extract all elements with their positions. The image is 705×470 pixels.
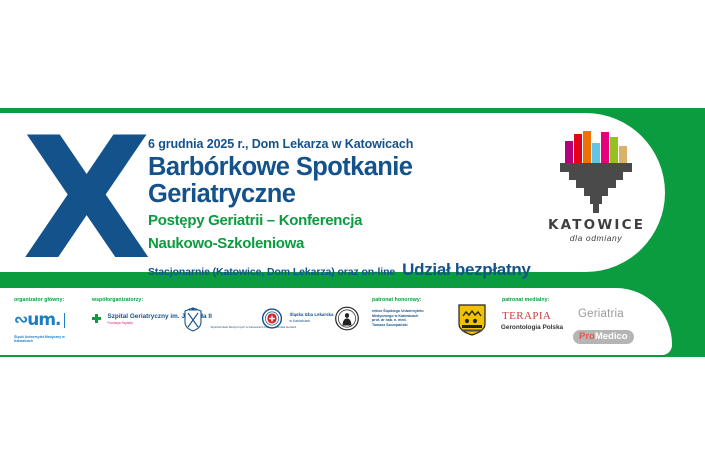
katowice-bar (601, 132, 609, 165)
katowice-heart-icon (560, 163, 632, 213)
katowice-bar (574, 134, 582, 165)
event-attendance-row: Stacjonarnie (Katowice, Dom Lekarza) ora… (148, 260, 548, 280)
main-white-panel: X 6 grudnia 2025 r., Dom Lekarza w Katow… (0, 113, 665, 272)
geriatria-wordmark: Geriatria (578, 308, 624, 320)
edition-roman-numeral: X (22, 131, 142, 271)
katowice-bar (583, 131, 591, 165)
katowice-city-logo: KATOWICE dla odmiany (548, 129, 644, 257)
label-honorary-patron: patronat honorowy: (372, 297, 422, 303)
sum-fullname: Śląski Uniwersytet Medyczny w Katowicach (14, 335, 84, 343)
poster-canvas: X 6 grudnia 2025 r., Dom Lekarza w Katow… (0, 0, 705, 470)
event-date-location: 6 grudnia 2025 r., Dom Lekarza w Katowic… (148, 137, 548, 151)
partners-strip: organizator główny: ∾um.Śląski Uniwersyt… (0, 288, 672, 355)
university-crest-icon (183, 306, 203, 332)
katowice-bar (592, 143, 600, 165)
katowice-logo-tagline: dla odmiany (548, 233, 644, 243)
logo-katowice-city-crest (458, 304, 486, 341)
katowice-color-bars (565, 131, 627, 165)
promedico-medico: Medico (595, 331, 628, 342)
katowice-bar (565, 141, 573, 165)
katowice-city-crest-icon (458, 304, 486, 336)
katowice-logo-name: KATOWICE (548, 217, 644, 233)
attendance-mode: Stacjonarnie (Katowice, Dom Lekarza) ora… (148, 266, 395, 278)
gerontologia-wordmark: Gerontologia Polska (500, 324, 564, 332)
society-seal-icon (335, 306, 359, 331)
label-media-patrons: patronat medialny: (502, 297, 549, 303)
terapia-wordmark: TERAPIA (502, 310, 551, 322)
banner-text-block: 6 grudnia 2025 r., Dom Lekarza w Katowic… (148, 137, 548, 280)
honorary-patron-text: rektor Śląskiego Uniwersytetu Medycznego… (372, 309, 450, 328)
logo-terapia: TERAPIA (502, 306, 551, 324)
logo-gerontologia-polska: Gerontologia Polska (500, 324, 564, 332)
event-title-line-2: Geriatryczne (148, 181, 548, 208)
logo-towarzystwo-gerontologiczne (335, 306, 359, 336)
izba-name-block: Śląska Izba Lekarska w Katowicach (289, 312, 333, 324)
logo-izba-lekarska: Śląska Izba Lekarska w Katowicach (262, 308, 333, 329)
event-subtitle-line-2: Naukowo-Szkoleniowa (148, 235, 548, 254)
logo-promedico: ProMedico (573, 326, 634, 344)
izba-seal-icon (262, 308, 282, 329)
sum-wordmark: ∾um. (14, 310, 61, 330)
promedico-pro: Pro (579, 331, 595, 342)
green-cross-icon (92, 314, 101, 323)
honorary-patron-name: rektor Śląskiego Uniwersytetu Medycznego… (372, 309, 450, 328)
sum-divider (64, 313, 65, 328)
izba-name: Śląska Izba Lekarska (289, 312, 333, 317)
label-co-organizers: współorganizatorzy: (92, 297, 143, 303)
izba-sub: w Katowicach (289, 319, 310, 323)
event-title-line-1: Barbórkowe Spotkanie (148, 154, 548, 181)
event-subtitle-line-1: Postępy Geriatrii – Konferencja (148, 212, 548, 231)
katowice-bar (610, 137, 618, 165)
logo-sum: ∾um.Śląski Uniwersytet Medyczny w Katowi… (14, 310, 84, 348)
promedico-wordmark: ProMedico (573, 330, 634, 344)
conference-banner: X 6 grudnia 2025 r., Dom Lekarza w Katow… (0, 105, 705, 357)
label-main-organizer: organizator główny: (14, 297, 64, 303)
logo-geriatria: Geriatria (578, 304, 624, 322)
free-participation: Udział bezpłatny (402, 260, 530, 280)
